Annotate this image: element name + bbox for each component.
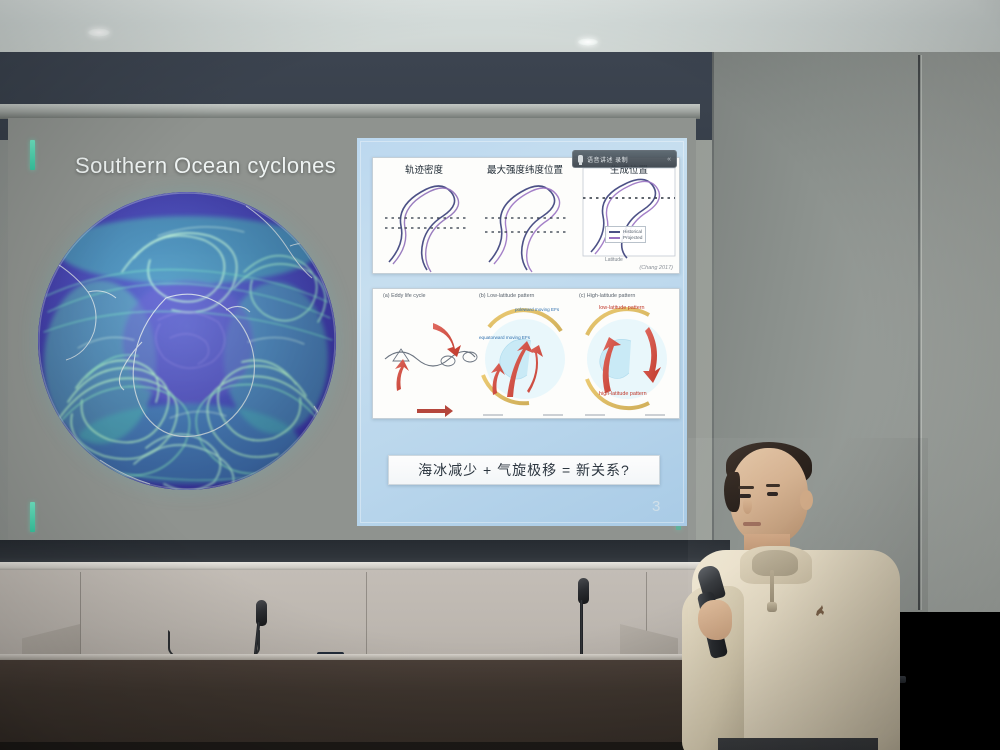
ceiling-light bbox=[578, 38, 598, 46]
globe-overlay-label: earth bbox=[57, 449, 76, 455]
presenter-hand bbox=[698, 600, 732, 640]
floor bbox=[0, 742, 700, 750]
diagram-title-b: (b) Low-latitude pattern bbox=[479, 293, 534, 299]
slide-page-number: 3 bbox=[652, 498, 660, 515]
annotation-poleward-efs: poleward moving EFs bbox=[515, 307, 559, 312]
chart-citation: (Chang 2017) bbox=[639, 265, 673, 271]
screen-recorder-toolbar[interactable]: 语音讲述 录制 « bbox=[572, 150, 677, 168]
polo-pony-logo-icon bbox=[814, 604, 826, 618]
legend-swatch-projected bbox=[609, 237, 620, 239]
presenter-zip-pull bbox=[767, 602, 777, 612]
annotation-equatorward-efs: equatorward moving EFs bbox=[479, 335, 530, 340]
chart-legend: Historical Projected bbox=[605, 226, 646, 243]
slide-title: Southern Ocean cyclones bbox=[75, 153, 345, 179]
presenter bbox=[688, 438, 928, 750]
legend-item-historical: Historical bbox=[609, 229, 642, 234]
presenter-trousers bbox=[718, 738, 878, 750]
recorder-toolbar-label: 语音讲述 录制 bbox=[587, 155, 628, 164]
presenter-hair-side bbox=[724, 472, 740, 512]
presenter-ear bbox=[800, 490, 813, 510]
key-message-text: 海冰减少 + 气旋极移 = 新关系? bbox=[418, 460, 630, 480]
chart-label-track-density: 轨迹密度 bbox=[381, 162, 467, 176]
key-message-box: 海冰减少 + 气旋极移 = 新关系? bbox=[388, 455, 660, 485]
legend-swatch-historical bbox=[609, 231, 620, 233]
podium bbox=[0, 660, 700, 750]
diagram-title-c: (c) High-latitude pattern bbox=[579, 293, 635, 299]
annotation-high-latitude-pattern: high-latitude pattern bbox=[599, 391, 647, 397]
annotation-low-latitude-pattern: low-latitude pattern bbox=[599, 305, 645, 311]
globe-overlay-controls: earth bbox=[44, 447, 76, 456]
wall-panel-seam bbox=[80, 572, 81, 664]
microphone-icon[interactable] bbox=[578, 155, 583, 163]
presenter-eye bbox=[767, 492, 778, 496]
presenter-brow bbox=[738, 486, 754, 489]
diagram-title-a: (a) Eddy life cycle bbox=[383, 293, 426, 299]
wall-dark-band bbox=[0, 540, 730, 564]
screen-marker-top-left bbox=[30, 140, 35, 170]
screen-marker-bottom-left bbox=[30, 502, 35, 532]
wall-panel-seam bbox=[366, 572, 367, 664]
globe-visualization: earth bbox=[38, 192, 336, 490]
presenter-nose bbox=[743, 498, 752, 514]
ceiling bbox=[0, 0, 1000, 52]
presenter-mouth bbox=[743, 522, 761, 526]
chevron-left-icon[interactable]: « bbox=[667, 156, 671, 163]
presentation-scene: Southern Ocean cyclones bbox=[0, 0, 1000, 750]
presenter-brow bbox=[766, 484, 780, 487]
legend-label-historical: Historical bbox=[623, 229, 642, 234]
chart-label-max-intensity-latitude: 最大强度纬度位置 bbox=[469, 162, 581, 176]
presenter-zip bbox=[770, 570, 774, 604]
screen-roller bbox=[0, 104, 700, 119]
ceiling-light bbox=[88, 28, 110, 37]
legend-item-projected: Projected bbox=[609, 235, 642, 240]
presenter-collar-inner bbox=[752, 550, 798, 576]
mechanism-diagram-panel: (a) Eddy life cycle (b) Low-latitude pat… bbox=[372, 288, 680, 419]
globe-menu-icon bbox=[44, 447, 53, 456]
legend-label-projected: Projected bbox=[623, 235, 642, 240]
chart-axis-label: Latitude bbox=[605, 257, 623, 263]
track-statistics-panel: 轨迹密度 最大强度纬度位置 生成位置 Historical Projected … bbox=[372, 157, 680, 274]
